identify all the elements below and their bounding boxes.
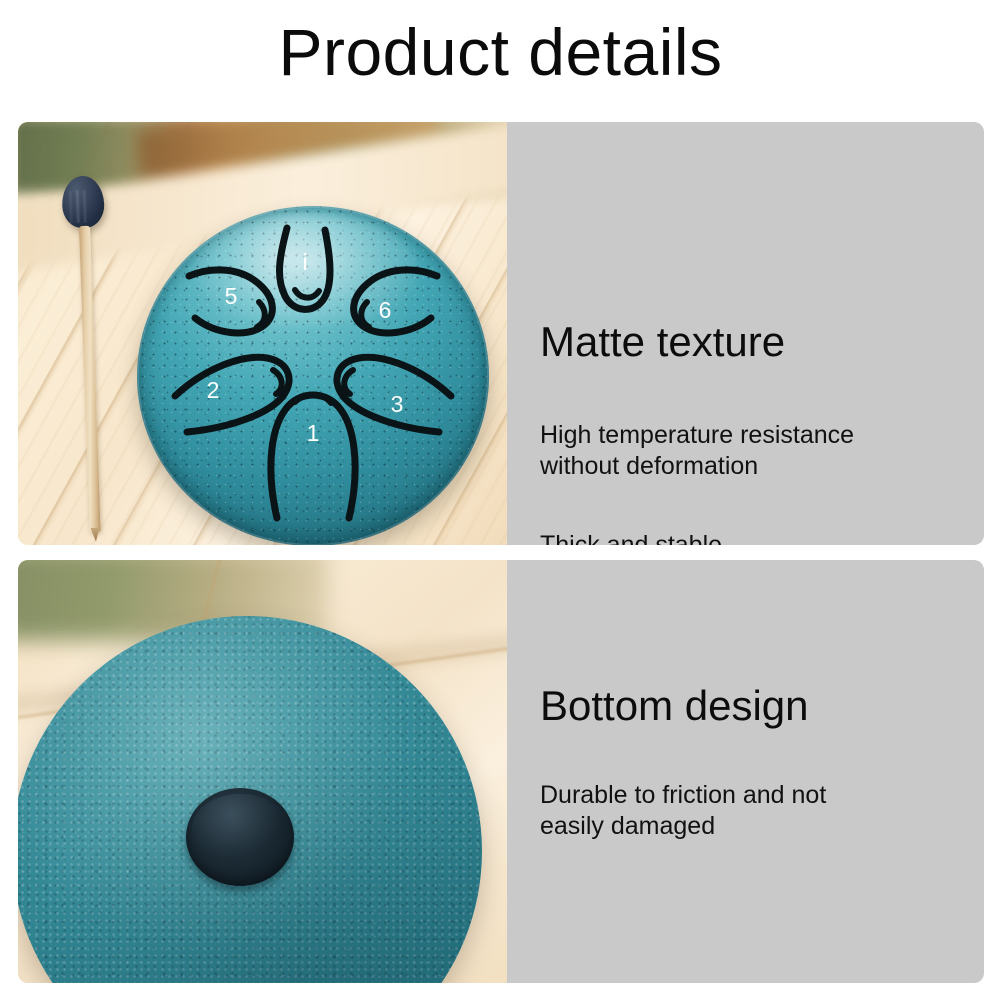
feature-title-bottom-design: Bottom design xyxy=(540,682,809,730)
drum-rubber-foot xyxy=(186,788,294,886)
tongue-label-6: 6 xyxy=(379,297,392,323)
tongue-label-1: 1 xyxy=(307,420,320,446)
feature-text-panel-matte-texture: Matte texture High temperature resistanc… xyxy=(507,122,984,545)
feature-description-line-1: High temperature resistance without defo… xyxy=(540,420,960,482)
steel-tongue-drum-top-view-photo: i 5 6 2 3 1 xyxy=(18,122,507,545)
feature-description-line-1: Durable to friction and not easily damag… xyxy=(540,780,960,842)
feature-description-line-2: Thick and stable xyxy=(540,530,960,545)
feature-text-panel-bottom-design: Bottom design Durable to friction and no… xyxy=(507,560,984,983)
page-title: Product details xyxy=(0,12,1001,92)
drum-tongue-cuts: i 5 6 2 3 1 xyxy=(137,206,489,545)
feature-title-matte-texture: Matte texture xyxy=(540,318,785,366)
tongue-label-5: 5 xyxy=(225,283,238,309)
feature-section-bottom-design: Bottom design Durable to friction and no… xyxy=(18,560,984,983)
tongue-label-2: 2 xyxy=(207,377,220,403)
steel-tongue-drum-bottom-view-photo xyxy=(18,560,507,983)
tongue-label-i: i xyxy=(302,249,307,275)
tongue-label-3: 3 xyxy=(391,391,404,417)
steel-tongue-drum-top: i 5 6 2 3 1 xyxy=(137,206,489,545)
feature-section-matte-texture: i 5 6 2 3 1 Matte texture High temperatu… xyxy=(18,122,984,545)
